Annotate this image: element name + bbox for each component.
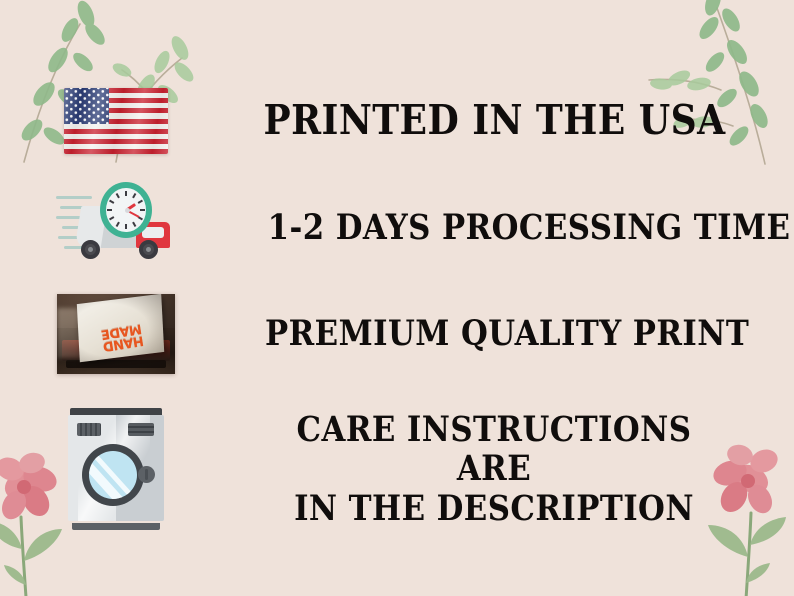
feature-row-printed-in-usa: PRINTED IN THE USA [0,78,794,164]
headline-care-line-1: CARE INSTRUCTIONS ARE [263,410,724,488]
headline-printed-in-usa: PRINTED IN THE USA [264,98,726,144]
usa-flag-icon [64,88,168,154]
text-cell-printed-in-usa: PRINTED IN THE USA [232,98,794,144]
headline-care-line-2: IN THE DESCRIPTION [263,489,724,528]
info-graphic-canvas: PRINTED IN THE USA [0,0,794,596]
icon-cell-washing-machine [0,398,232,540]
feature-row-care-instructions: CARE INSTRUCTIONS ARE IN THE DESCRIPTION [0,398,794,540]
icon-cell-usa-flag [0,78,232,164]
handmade-screen-print-photo: HAND MADE [57,294,175,374]
text-cell-premium-quality: PREMIUM QUALITY PRINT [232,314,794,353]
icon-cell-fast-delivery [0,182,232,274]
text-cell-processing-time: 1-2 DAYS PROCESSING TIME [232,208,794,247]
feature-row-processing-time: 1-2 DAYS PROCESSING TIME [0,182,794,274]
icon-cell-print-photo: HAND MADE [0,288,232,380]
fast-delivery-truck-icon [56,180,176,276]
headline-care-instructions: CARE INSTRUCTIONS ARE IN THE DESCRIPTION [263,410,724,528]
headline-processing-time: 1-2 DAYS PROCESSING TIME [268,208,791,247]
text-cell-care-instructions: CARE INSTRUCTIONS ARE IN THE DESCRIPTION [232,410,794,528]
feature-row-premium-quality: HAND MADE PREMIUM QUALITY PRINT [0,288,794,380]
washing-machine-icon [68,408,164,530]
headline-premium-quality: PREMIUM QUALITY PRINT [265,314,749,353]
